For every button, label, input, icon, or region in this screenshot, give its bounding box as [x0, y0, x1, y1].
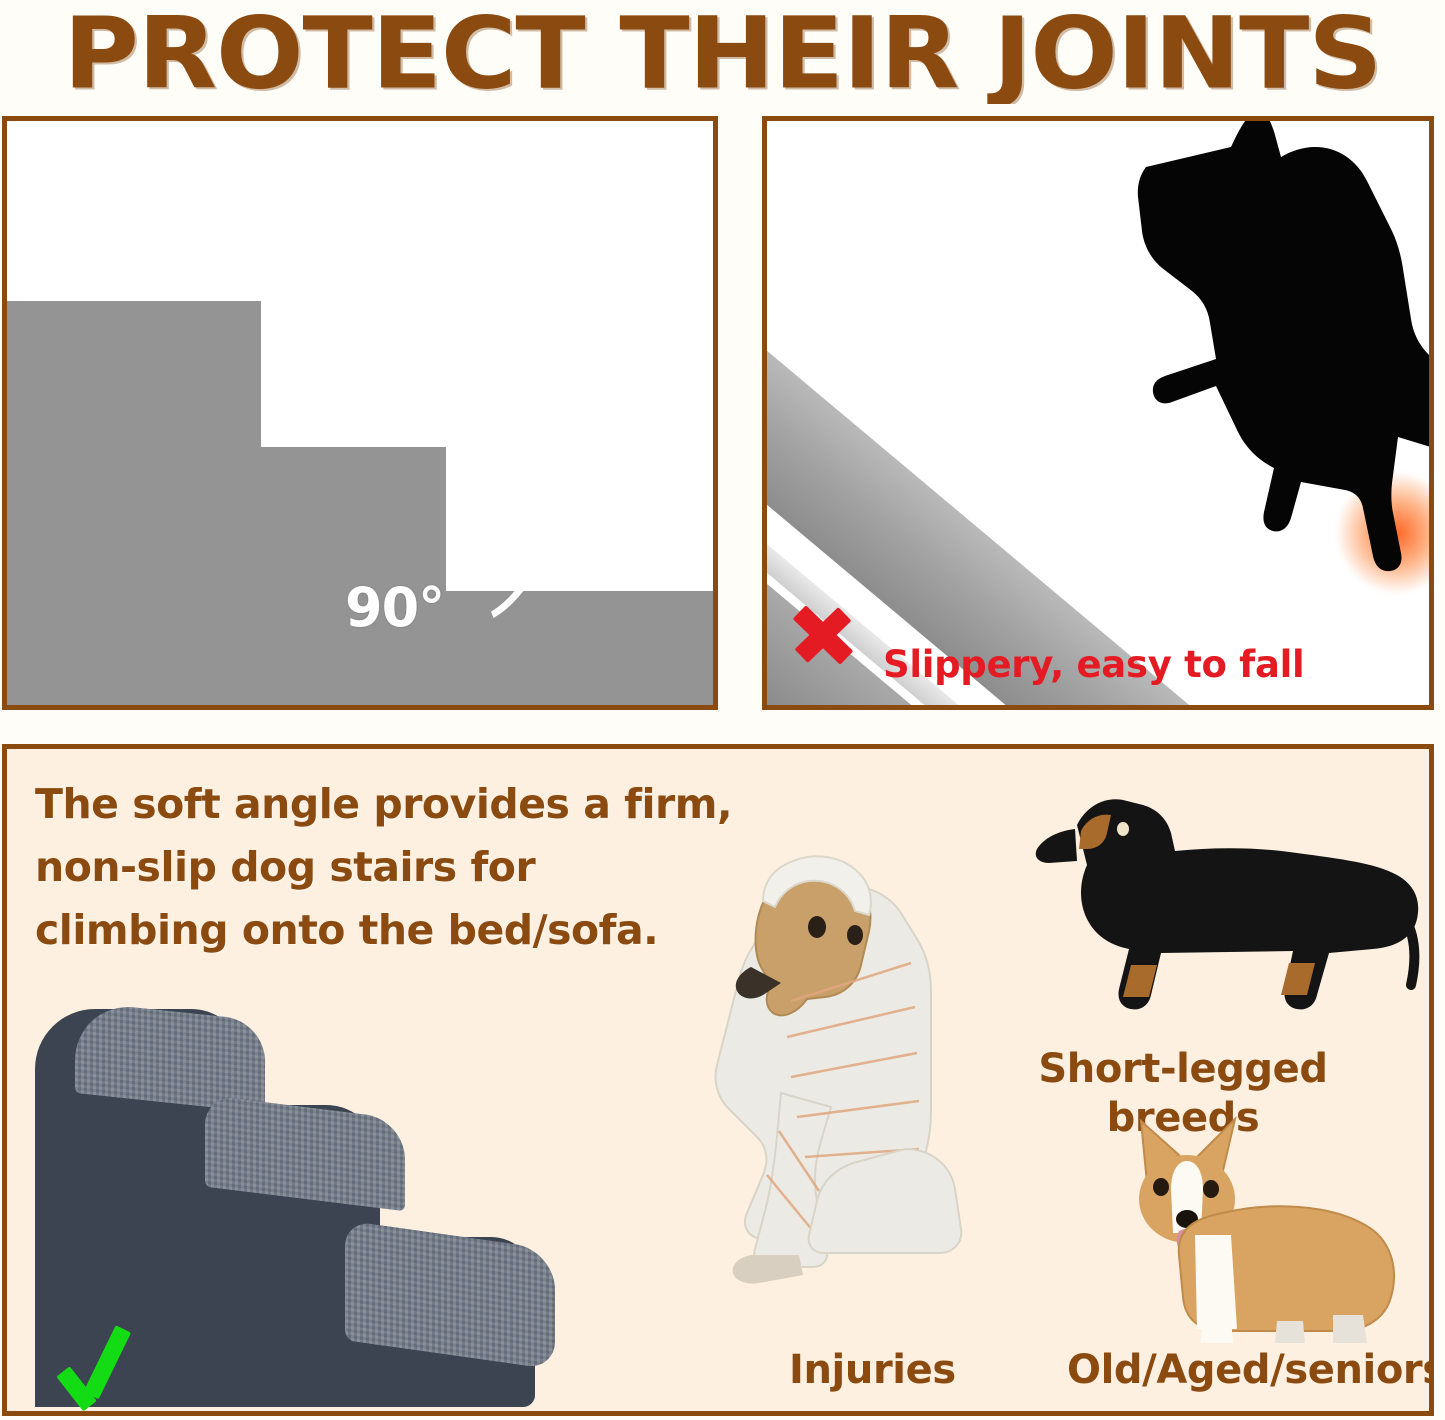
header-banner: PROTECT THEIR JOINTS [0, 0, 1445, 104]
panel-slippery-easy-to-fall: Slippery, easy to fall [762, 116, 1434, 710]
caption-slippery-easy-to-fall: Slippery, easy to fall [883, 643, 1304, 686]
promo-line-3: climbing onto the bed/sofa. [35, 906, 658, 954]
product-dog-stairs [15, 987, 615, 1407]
corgi-photo [1105, 1109, 1405, 1345]
infographic-root: PROTECT THEIR JOINTS 90° Difficulty of c… [0, 0, 1445, 1420]
dachshund-photo [989, 785, 1429, 1017]
check-mark-icon [57, 1317, 153, 1413]
panel-difficulty-of-climbing: 90° Difficulty of climbing [2, 116, 718, 710]
stairs-diagram: 90° Difficulty of climbing [7, 121, 713, 705]
label-injuries: Injuries [789, 1347, 956, 1393]
panel-solution: The soft angle provides a firm, non-slip… [2, 744, 1434, 1416]
dog-silhouette-icon [1035, 121, 1429, 649]
label-old-aged-seniors: Old/Aged/seniors [1067, 1347, 1434, 1393]
page-title: PROTECT THEIR JOINTS [64, 0, 1382, 104]
ramp-diagram: Slippery, easy to fall [767, 121, 1429, 705]
angle-label: 90° [345, 576, 444, 639]
promo-line-2: non-slip dog stairs for [35, 843, 535, 891]
promo-line-1: The soft angle provides a firm, [35, 780, 732, 828]
promo-description: The soft angle provides a firm, non-slip… [35, 773, 735, 962]
x-mark-icon [785, 597, 861, 673]
